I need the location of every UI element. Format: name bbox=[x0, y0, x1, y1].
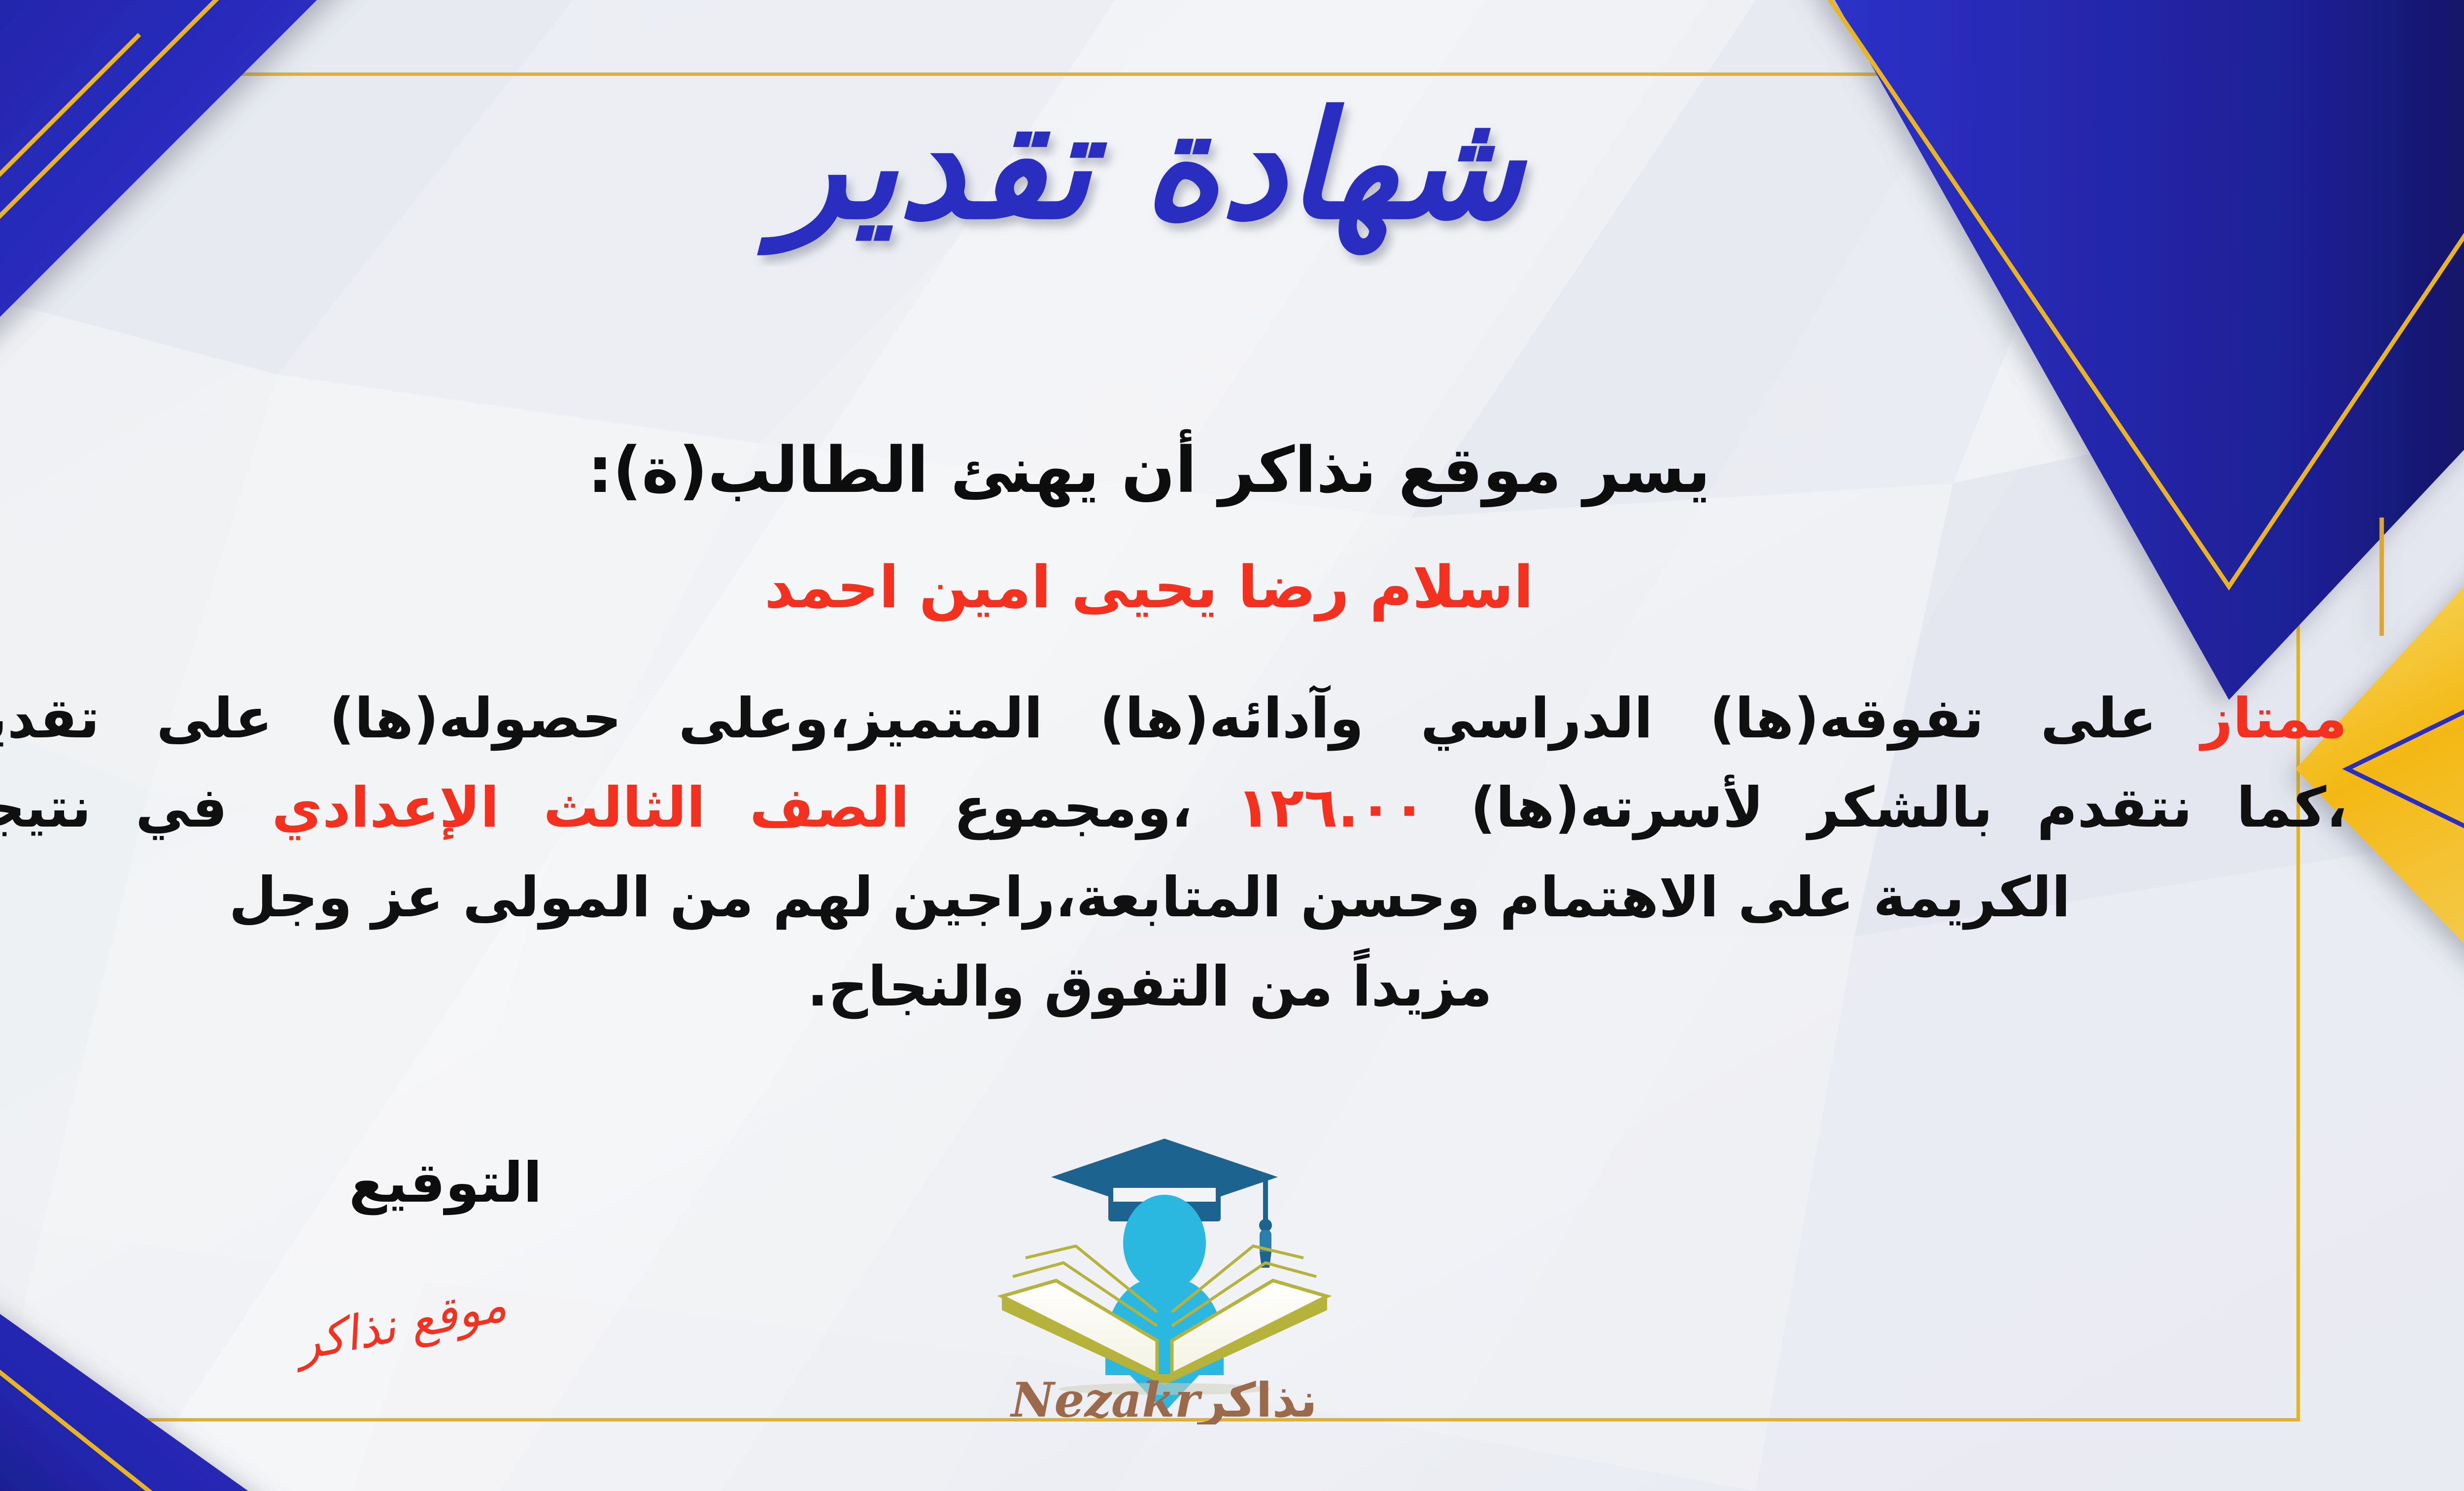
grade-value: ممتاز bbox=[2201, 687, 2347, 751]
body-line-2-tail: ،كما نتقدم بالشكر لأسرته(ها) bbox=[1471, 776, 2347, 840]
student-name: اسلام رضا يحيى امين احمد bbox=[0, 553, 2464, 621]
body-line-1: ممتازعلى تفوقه(ها) الدراسي وآدائه(ها) ال… bbox=[0, 674, 2357, 763]
body-line-2-head: في نتيجة bbox=[0, 776, 227, 840]
certificate-title: شهادة تقدير bbox=[0, 69, 2464, 266]
body-line-1-text: على تفوقه(ها) الدراسي وآدائه(ها) المتميز… bbox=[0, 687, 2156, 751]
greeting-line: يسر موقع نذاكر أن يهنئ الطالب(ة): bbox=[0, 434, 2464, 507]
logo-latin-text: Nezakr bbox=[1010, 1372, 1203, 1424]
total-score-value: ١٢٦.٠٠ bbox=[1236, 776, 1426, 840]
title-calligraphy: شهادة تقدير bbox=[681, 69, 1617, 266]
school-stage-value: الصف الثالث الإعدادي bbox=[272, 776, 909, 840]
body-line-2: ،كما نتقدم بالشكر لأسرته(ها)١٢٦.٠٠،ومجمو… bbox=[0, 763, 2357, 853]
body-paragraph: ممتازعلى تفوقه(ها) الدراسي وآدائه(ها) ال… bbox=[0, 674, 2357, 1032]
body-line-4: مزيداً من التفوق والنجاح. bbox=[0, 942, 2357, 1032]
signature-mark: موقع نذاكر bbox=[292, 1277, 511, 1371]
body-line-2-mid: ،ومجموع bbox=[954, 776, 1192, 840]
svg-text:شهادة تقدير: شهادة تقدير bbox=[756, 80, 1529, 256]
body-line-3: الكريمة على الاهتمام وحسن المتابعة،راجين… bbox=[0, 853, 2357, 942]
signature-label: التوقيع bbox=[349, 1151, 542, 1215]
certificate-page: شهادة تقدير يسر موقع نذاكر أن يهنئ الطال… bbox=[0, 0, 2464, 1491]
logo-arabic-text: نذاكر bbox=[1197, 1373, 1317, 1424]
nezakr-logo: Nezakr نذاكر bbox=[982, 1129, 1347, 1424]
